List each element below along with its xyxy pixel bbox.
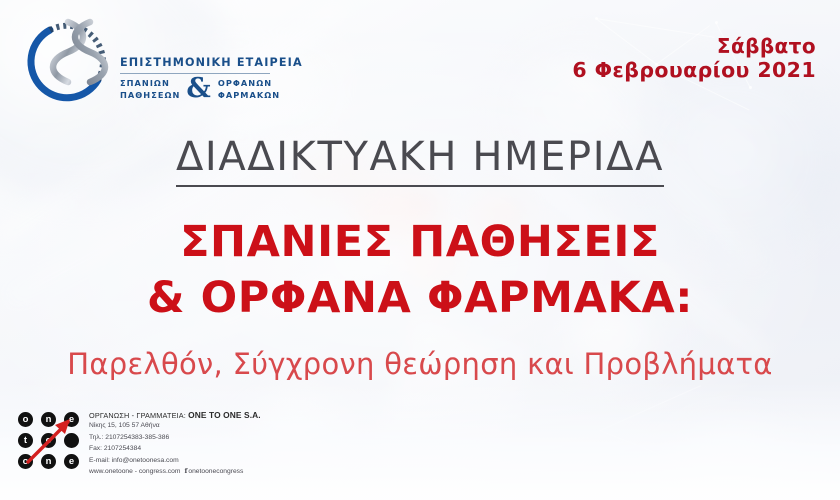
society-name-left-column: ΣΠΑΝΙΩΝ ΠΑΘΗΣΕΩΝ <box>120 78 180 100</box>
footer-website[interactable]: www.onetoone - congress.com <box>89 468 180 475</box>
society-name-spanion: ΣΠΑΝΙΩΝ <box>120 78 180 88</box>
event-title-line2: & ΟΡΦΑΝΑ ΦΑΡΜΑΚΑ: <box>0 271 840 327</box>
footer-organizer: ΟΡΓΑΝΩΣΗ - ΓΡΑΜΜΑΤΕΙΑ: ONE TO ONE S.A. <box>89 410 261 420</box>
ampersand-glyph: & <box>185 78 212 101</box>
headline-block: ΔΙΑΔΙΚΤΥΑΚΗ ΗΜΕΡΙΔΑ ΣΠΑΝΙΕΣ ΠΑΘΗΣΕΙΣ & Ο… <box>0 136 840 381</box>
society-logo-text: ΕΠΙΣΤΗΜΟΝΙΚΗ ΕΤΑΙΡΕΙΑ ΣΠΑΝΙΩΝ ΠΑΘΗΣΕΩΝ &… <box>120 28 303 101</box>
footer-web-row: www.onetoone - congress.comfonetoonecong… <box>89 466 261 478</box>
footer-contact-info: ΟΡΓΑΝΩΣΗ - ΓΡΑΜΜΑΤΕΙΑ: ONE TO ONE S.A. Ν… <box>89 409 261 478</box>
footer: o n e t o o n e ΟΡΓΑΝΩΣΗ - ΓΡΑΜΜΑΤΕΙΑ: O… <box>18 409 261 478</box>
footer-facebook-handle[interactable]: onetoonecongress <box>188 468 243 475</box>
society-name-primary: ΕΠΙΣΤΗΜΟΝΙΚΗ ΕΤΑΙΡΕΙΑ <box>120 56 303 69</box>
red-arrow-icon <box>18 412 80 470</box>
one-to-one-logo-icon: o n e t o o n e <box>18 412 80 470</box>
event-date: Σάββατο 6 Φεβρουαρίου 2021 <box>572 34 816 83</box>
society-name-pathiseon: ΠΑΘΗΣΕΩΝ <box>120 90 180 100</box>
society-logo: ΕΠΙΣΤΗΜΟΝΙΚΗ ΕΤΑΙΡΕΙΑ ΣΠΑΝΙΩΝ ΠΑΘΗΣΕΩΝ &… <box>20 14 303 114</box>
event-kicker: ΔΙΑΔΙΚΤΥΑΚΗ ΗΜΕΡΙΔΑ <box>176 136 664 187</box>
event-date-full: 6 Φεβρουαρίου 2021 <box>572 58 816 83</box>
event-subtitle: Παρελθόν, Σύγχρονη θεώρηση και Προβλήματ… <box>0 347 840 381</box>
event-weekday: Σάββατο <box>572 34 816 58</box>
footer-organizer-name: ONE TO ONE S.A. <box>188 410 261 420</box>
society-name-orfanon: ΟΡΦΑΝΩΝ <box>218 78 280 88</box>
footer-phone: Τηλ.: 2107254383-385-386 <box>89 432 261 444</box>
society-name-farmakon: ΦΑΡΜΑΚΩΝ <box>218 90 280 100</box>
poster-canvas: ΕΠΙΣΤΗΜΟΝΙΚΗ ΕΤΑΙΡΕΙΑ ΣΠΑΝΙΩΝ ΠΑΘΗΣΕΩΝ &… <box>0 0 840 500</box>
footer-address: Νίκης 15, 105 57 Αθήνα <box>89 420 261 432</box>
dna-helix-icon <box>20 14 112 114</box>
event-title: ΣΠΑΝΙΕΣ ΠΑΘΗΣΕΙΣ & ΟΡΦΑΝΑ ΦΑΡΜΑΚΑ: <box>0 215 840 327</box>
event-title-line1: ΣΠΑΝΙΕΣ ΠΑΘΗΣΕΙΣ <box>0 215 840 271</box>
footer-organizer-label: ΟΡΓΑΝΩΣΗ - ΓΡΑΜΜΑΤΕΙΑ: <box>89 411 188 420</box>
society-name-right-column: ΟΡΦΑΝΩΝ ΦΑΡΜΑΚΩΝ <box>218 78 280 100</box>
footer-fax: Fax: 2107254384 <box>89 443 261 455</box>
footer-email[interactable]: E-mail: info@onetoonesa.com <box>89 455 261 467</box>
